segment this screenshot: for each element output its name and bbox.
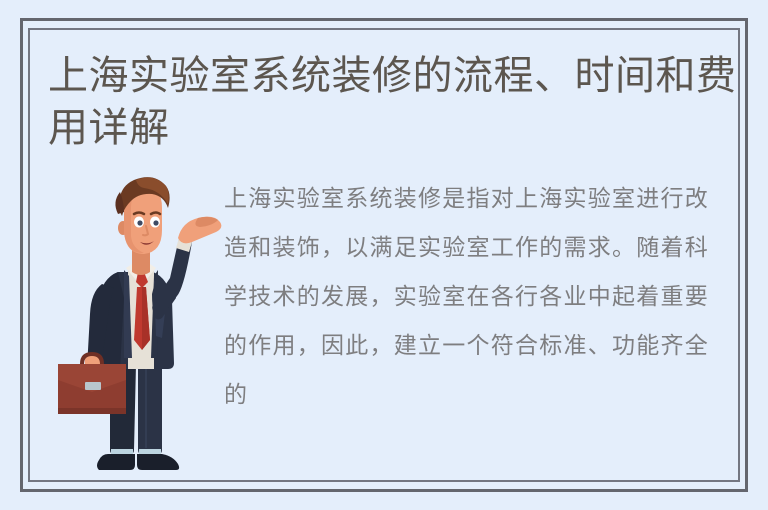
- page-title: 上海实验室系统装修的流程、时间和费用详解: [48, 50, 740, 154]
- shoe-left-icon: [97, 454, 135, 470]
- businessman-illustration: [58, 168, 224, 480]
- briefcase-clasp-icon: [85, 382, 101, 390]
- briefcase-base-icon: [58, 408, 126, 414]
- pupil-left-icon: [137, 220, 142, 225]
- leg-front-icon: [138, 364, 162, 454]
- pupil-right-icon: [153, 220, 158, 225]
- shoe-right-icon: [137, 454, 179, 470]
- businessman-illustration-svg: [58, 168, 224, 480]
- article-body-text: 上海实验室系统装修是指对上海实验室进行改造和装饰，以满足实验室工作的需求。随着科…: [224, 174, 708, 419]
